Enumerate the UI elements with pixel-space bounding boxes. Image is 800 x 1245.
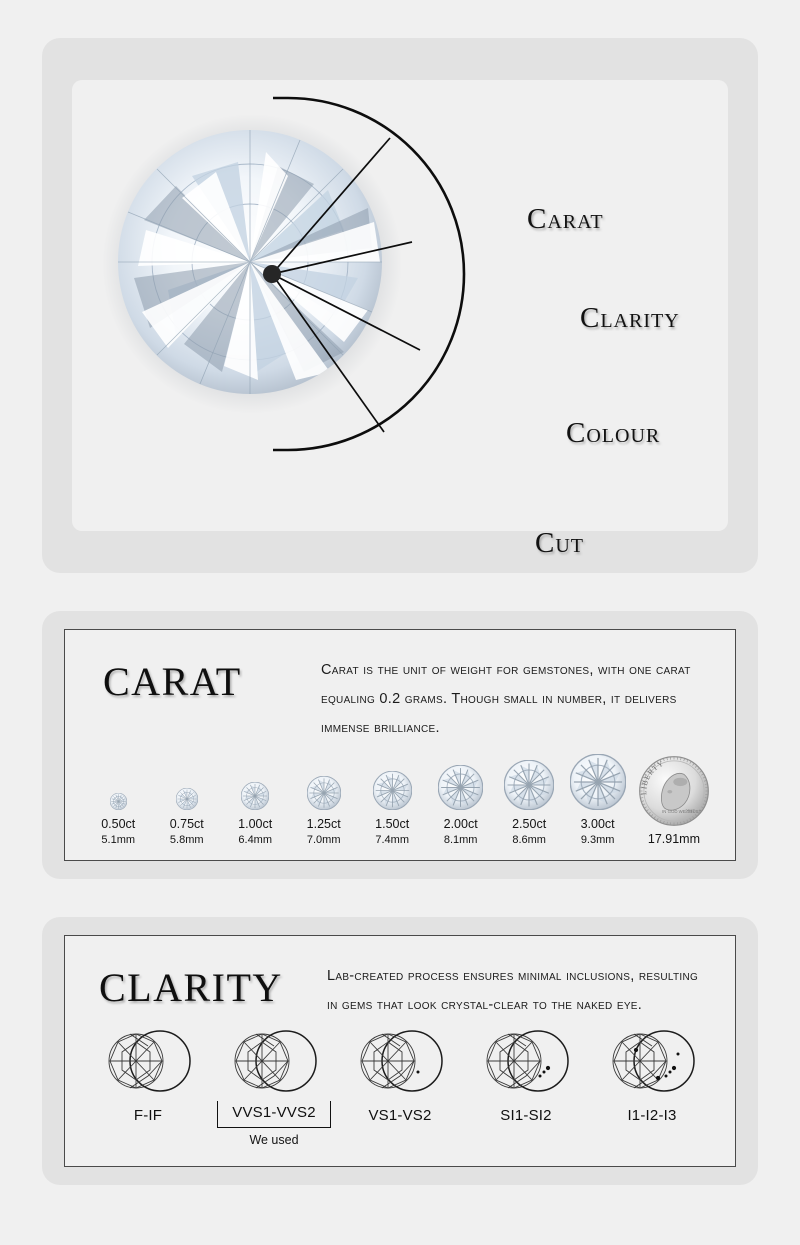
clarity-card: CLARITY Lab-created process ensures mini… [42,917,758,1185]
carat-weight-label: 2.50ct [512,817,546,831]
clarity-grade-item[interactable]: VS1-VS2 [345,1028,455,1146]
gem-facets [118,130,382,394]
carat-scale-item: 2.00ct8.1mm [429,738,491,846]
diamond-icon [110,738,127,810]
carat-weight-label: 0.75ct [170,817,204,831]
label-carat: Carat [527,203,604,236]
clarity-diamond-icon [474,1028,578,1099]
dime-icon: LIBERTY IN GOD WE TRUST 2017 [639,754,709,826]
carat-size-label: 8.1mm [444,834,478,846]
carat-header: CARAT Carat is the unit of weight for ge… [65,630,735,743]
clarity-diamond-icon [600,1028,704,1099]
carat-panel: CARAT Carat is the unit of weight for ge… [64,629,736,861]
hero-card: Carat Clarity Colour Cut [42,38,758,573]
carat-size-label: 6.4mm [238,834,272,846]
clarity-grade-item[interactable]: SI1-SI2 [471,1028,581,1146]
carat-weight-label: 1.50ct [375,817,409,831]
clarity-grade-label[interactable]: VS1-VS2 [368,1107,431,1124]
diamond-icon [307,738,341,810]
selected-grade-note: We used [249,1133,298,1147]
clarity-title: CLARITY [91,958,327,1008]
carat-size-label: 5.1mm [101,834,135,846]
label-colour: Colour [566,417,660,450]
carat-scale-item: 1.25ct7.0mm [292,738,354,846]
carat-size-label: 8.6mm [512,834,546,846]
reference-coin-item: LIBERTY IN GOD WE TRUST 2017 17.91mm [635,754,713,846]
infographic-page: Carat Clarity Colour Cut CARAT Carat is … [0,0,800,1245]
clarity-scale-row: F-IF VVS1-VVS2We used VS1- [65,1028,735,1147]
clarity-diamond-icon [348,1028,452,1099]
carat-weight-label: 3.00ct [581,817,615,831]
carat-scale-item: 1.50ct7.4mm [361,738,423,846]
clarity-grade-item[interactable]: F-IF [93,1028,203,1146]
carat-weight-label: 2.00ct [444,817,478,831]
carat-scale-item: 0.50ct5.1mm [87,738,149,846]
carat-size-label: 7.0mm [307,834,341,846]
clarity-grade-label[interactable]: F-IF [134,1107,162,1124]
carat-scale-item: 1.00ct6.4mm [224,738,286,846]
carat-scale-row: 0.50ct5.1mm 0.75ct5.8mm 1.00ct6.4mm [65,738,735,846]
carat-size-label: 5.8mm [170,834,204,846]
carat-weight-label: 0.50ct [101,817,135,831]
diagram-hub [263,265,281,283]
carat-size-label: 9.3mm [581,834,615,846]
carat-scale-item: 0.75ct5.8mm [155,738,217,846]
diamond-icon [241,738,269,810]
clarity-grade-item[interactable]: VVS1-VVS2We used [219,1028,329,1147]
carat-scale-item: 3.00ct9.3mm [566,738,628,846]
carat-weight-label: 1.25ct [307,817,341,831]
clarity-grade-item[interactable]: I1-I2-I3 [597,1028,707,1146]
carat-card: CARAT Carat is the unit of weight for ge… [42,611,758,879]
diamond-icon [373,738,412,810]
clarity-grade-label[interactable]: I1-I2-I3 [627,1107,676,1124]
diamond-icon [570,738,626,810]
four-cs-stage: Carat Clarity Colour Cut [72,80,728,531]
clarity-header: CLARITY Lab-created process ensures mini… [65,936,735,1020]
carat-weight-label: 1.00ct [238,817,272,831]
hero-panel: Carat Clarity Colour Cut [72,80,728,531]
svg-text:2017: 2017 [685,809,695,814]
coin-size-label: 17.91mm [648,832,700,846]
diamond-icon [438,738,483,810]
clarity-panel: CLARITY Lab-created process ensures mini… [64,935,736,1167]
clarity-description: Lab-created process ensures minimal incl… [327,958,709,1020]
carat-size-label: 7.4mm [375,834,409,846]
carat-description: Carat is the unit of weight for gemstone… [321,652,709,743]
clarity-grade-label[interactable]: VVS1-VVS2 [217,1101,331,1128]
clarity-grade-label[interactable]: SI1-SI2 [500,1107,551,1124]
diamond-icon [176,738,198,810]
diamond-icon [504,738,554,810]
label-clarity: Clarity [580,302,680,335]
label-cut: Cut [535,527,584,560]
clarity-diamond-icon [96,1028,200,1099]
svg-text:IN GOD WE TRUST: IN GOD WE TRUST [662,809,701,814]
carat-scale-item: 2.50ct8.6mm [498,738,560,846]
clarity-diamond-icon [222,1028,326,1099]
carat-title: CARAT [91,652,321,702]
